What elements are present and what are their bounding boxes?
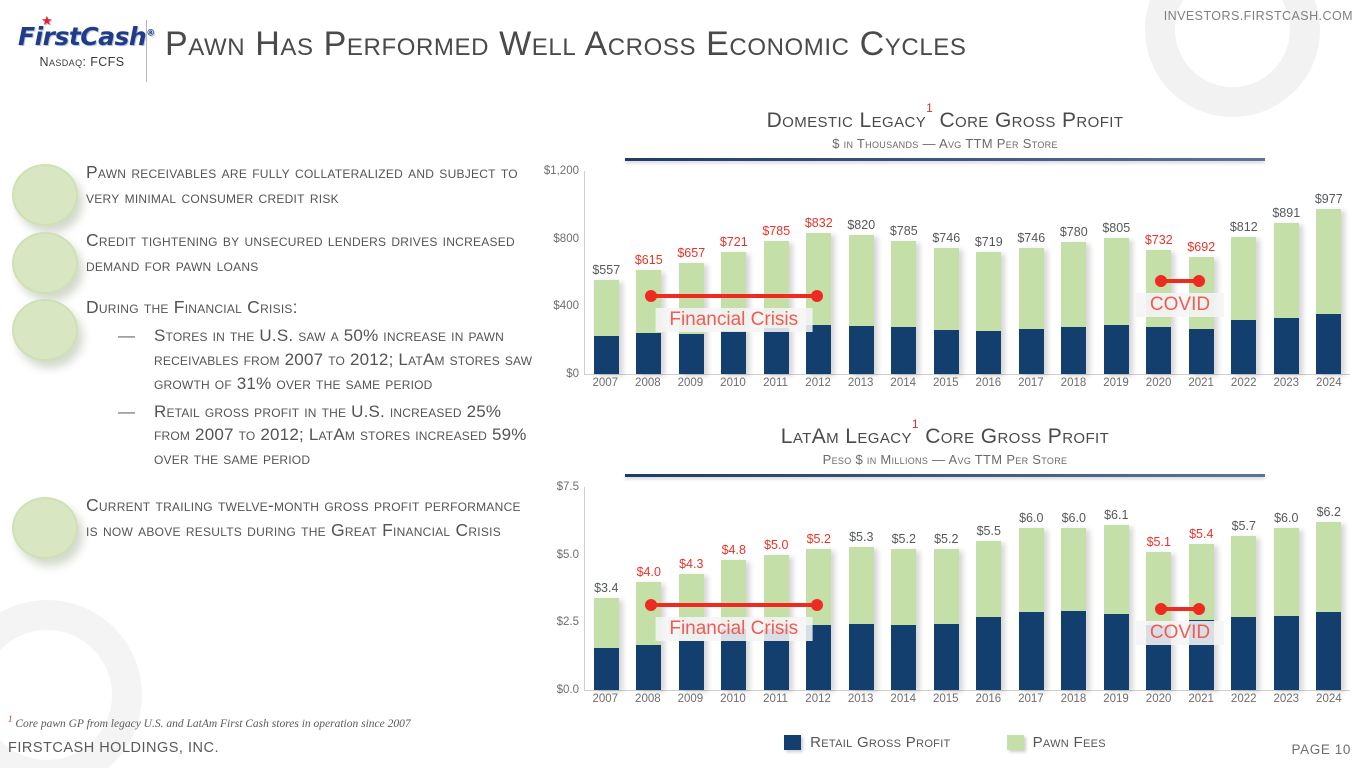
bar-column: $746 — [925, 171, 968, 374]
x-axis-tick-label: 2015 — [925, 377, 968, 389]
bar-value-label: $5.7 — [1232, 519, 1256, 533]
x-axis-tick-label: 2019 — [1095, 377, 1138, 389]
x-axis-tick-label: 2009 — [669, 693, 712, 705]
bar-segment-pawn-fees — [1231, 237, 1256, 320]
sub-bullet-text: Stores in the U.S. saw a 50% increase in… — [154, 326, 532, 393]
bar-value-label: $615 — [635, 253, 663, 267]
bar-segment-retail-gross-profit — [721, 331, 746, 374]
bar-segment-pawn-fees — [594, 598, 619, 648]
bar-stack — [594, 598, 619, 690]
bar-segment-retail-gross-profit — [1189, 329, 1214, 374]
bar-value-label: $692 — [1187, 240, 1215, 254]
bar-group: $557$615$657$721$785$832$820$785$746$719… — [585, 171, 1350, 374]
bar-value-label: $785 — [890, 224, 918, 238]
legend-swatch — [784, 735, 801, 750]
bar-column: $6.2 — [1308, 487, 1351, 690]
bar-segment-pawn-fees — [1061, 242, 1086, 327]
y-axis-tick-label: $800 — [553, 233, 579, 245]
chart-subtitle: $ in Thousands — Avg TTM Per Store — [530, 136, 1360, 151]
bar-value-label: $5.2 — [807, 532, 831, 546]
bar-segment-retail-gross-profit — [1104, 614, 1129, 690]
bar-segment-pawn-fees — [849, 235, 874, 325]
bar-column: $4.3 — [670, 487, 713, 690]
bar-value-label: $6.0 — [1274, 511, 1298, 525]
bar-stack — [1104, 525, 1129, 690]
bar-segment-retail-gross-profit — [679, 641, 704, 690]
bar-stack — [976, 252, 1001, 374]
footnote-marker: 1 — [8, 714, 13, 724]
x-axis-tick-label: 2010 — [712, 377, 755, 389]
bar-stack — [1231, 237, 1256, 374]
bar-column: $3.4 — [585, 487, 628, 690]
plot-area: $3.4$4.0$4.3$4.8$5.0$5.2$5.3$5.2$5.2$5.5… — [530, 487, 1360, 717]
bar-value-label: $5.4 — [1189, 527, 1213, 541]
title-rule — [625, 474, 1265, 477]
x-axis-tick-label: 2024 — [1308, 693, 1351, 705]
bar-column: $721 — [713, 171, 756, 374]
legend-item-retail-gross-profit: Retail Gross Profit — [784, 734, 950, 751]
x-axis-tick-label: 2022 — [1222, 693, 1265, 705]
bar-stack — [891, 549, 916, 690]
x-axis-tick-label: 2020 — [1137, 377, 1180, 389]
bar-segment-pawn-fees — [1316, 522, 1341, 611]
bar-segment-pawn-fees — [1274, 528, 1299, 616]
bullet-circle-icon — [12, 497, 78, 559]
chart-title-rest: Core Gross Profit — [925, 425, 1109, 448]
chart-title: Domestic Legacy1 Core Gross Profit — [530, 108, 1360, 133]
bar-stack — [849, 547, 874, 690]
chart-title-main: Domestic Legacy — [767, 109, 927, 132]
list-item: During the Financial Crisis: — Stores in… — [0, 295, 540, 471]
bar-segment-retail-gross-profit — [1316, 612, 1341, 690]
slide: ★ FirstCash® Nasdaq: FCFS Pawn Has Perfo… — [0, 0, 1365, 768]
dash-icon: — — [118, 324, 135, 348]
bar-segment-retail-gross-profit — [934, 624, 959, 690]
bar-value-label: $785 — [762, 224, 790, 238]
bar-stack — [1061, 528, 1086, 690]
legend-item-pawn-fees: Pawn Fees — [1007, 734, 1106, 751]
bar-column: $4.0 — [628, 487, 671, 690]
x-axis-tick-label: 2018 — [1052, 693, 1095, 705]
period-label: Financial Crisis — [655, 617, 812, 641]
x-axis-tick-label: 2023 — [1265, 377, 1308, 389]
bar-column: $5.1 — [1138, 487, 1181, 690]
sub-bullet-text: Retail gross profit in the U.S. increase… — [154, 402, 527, 469]
period-label: COVID — [1136, 293, 1224, 317]
list-item: Current trailing twelve-month gross prof… — [0, 493, 540, 543]
axis-area: $557$615$657$721$785$832$820$785$746$719… — [584, 171, 1350, 375]
bar-value-label: $557 — [592, 263, 620, 277]
x-axis-tick-label: 2024 — [1308, 377, 1351, 389]
period-endpoint-dot — [1155, 275, 1167, 287]
bar-stack — [1231, 536, 1256, 690]
dash-icon: — — [118, 400, 135, 424]
bar-value-label: $721 — [720, 235, 748, 249]
period-line — [649, 603, 819, 607]
y-axis-tick-label: $400 — [553, 300, 579, 312]
bar-stack — [1274, 223, 1299, 374]
bar-value-label: $5.1 — [1147, 535, 1171, 549]
bar-value-label: $746 — [1017, 231, 1045, 245]
bar-value-label: $4.0 — [637, 565, 661, 579]
bar-column: $6.0 — [1053, 487, 1096, 690]
header-divider — [146, 20, 147, 82]
bar-segment-retail-gross-profit — [679, 334, 704, 374]
bar-value-label: $6.0 — [1062, 511, 1086, 525]
bar-stack — [934, 248, 959, 374]
bar-stack — [806, 233, 831, 374]
x-axis-tick-label: 2020 — [1137, 693, 1180, 705]
bar-column: $820 — [840, 171, 883, 374]
bar-stack — [849, 235, 874, 374]
bar-value-label: $812 — [1230, 220, 1258, 234]
bar-segment-retail-gross-profit — [594, 648, 619, 690]
bar-segment-pawn-fees — [1019, 248, 1044, 329]
bar-column: $785 — [883, 171, 926, 374]
bar-segment-retail-gross-profit — [1274, 318, 1299, 374]
bar-value-label: $732 — [1145, 233, 1173, 247]
x-axis-tick-label: 2017 — [1010, 693, 1053, 705]
bullet-text: Current trailing twelve-month gross prof… — [86, 493, 540, 543]
bar-column: $6.0 — [1265, 487, 1308, 690]
bar-value-label: $977 — [1315, 192, 1343, 206]
bar-value-label: $6.0 — [1019, 511, 1043, 525]
bar-column: $5.0 — [755, 487, 798, 690]
bar-column: $719 — [968, 171, 1011, 374]
list-item: Pawn receivables are fully collateralize… — [0, 160, 540, 210]
company-name: FIRSTCASH HOLDINGS, INC. — [8, 740, 219, 756]
bar-segment-pawn-fees — [1104, 525, 1129, 614]
x-axis-tick-label: 2017 — [1010, 377, 1053, 389]
footnote-text: Core pawn GP from legacy U.S. and LatAm … — [15, 718, 410, 730]
bullet-text: Credit tightening by unsecured lenders d… — [86, 228, 540, 278]
bar-segment-retail-gross-profit — [891, 327, 916, 374]
bar-segment-pawn-fees — [891, 241, 916, 327]
x-axis-tick-label: 2008 — [627, 377, 670, 389]
bar-stack — [594, 280, 619, 374]
footnote: 1 Core pawn GP from legacy U.S. and LatA… — [8, 714, 411, 730]
bullet-circle-icon — [12, 299, 78, 361]
x-axis-tick-label: 2015 — [925, 693, 968, 705]
star-icon: ★ — [41, 15, 52, 28]
chart-latam-legacy: LatAm Legacy1 Core Gross Profit Peso $ i… — [530, 424, 1360, 724]
bar-column: $805 — [1095, 171, 1138, 374]
bar-value-label: $5.2 — [892, 532, 916, 546]
x-axis-tick-label: 2016 — [967, 693, 1010, 705]
legend-label: Retail Gross Profit — [810, 734, 950, 751]
x-axis-tick-label: 2008 — [627, 693, 670, 705]
bar-column: $832 — [798, 171, 841, 374]
bullet-text: Pawn receivables are fully collateralize… — [86, 160, 540, 210]
firstcash-logo: ★ FirstCash® Nasdaq: FCFS — [18, 22, 146, 69]
bar-stack — [1019, 528, 1044, 690]
bar-segment-pawn-fees — [891, 549, 916, 624]
bar-column: $732 — [1138, 171, 1181, 374]
bar-segment-retail-gross-profit — [891, 625, 916, 690]
y-axis-tick-label: $1,200 — [544, 165, 579, 177]
y-axis-tick-label: $7.5 — [557, 481, 579, 493]
bar-column: $780 — [1053, 171, 1096, 374]
bar-value-label: $746 — [932, 231, 960, 245]
bar-column: $615 — [628, 171, 671, 374]
bullet-text: During the Financial Crisis: — [86, 295, 540, 320]
chart-domestic-legacy: Domestic Legacy1 Core Gross Profit $ in … — [530, 108, 1360, 408]
x-axis: 2007200820092010201120122013201420152016… — [584, 693, 1350, 717]
x-axis-tick-label: 2022 — [1222, 377, 1265, 389]
bar-segment-retail-gross-profit — [594, 336, 619, 374]
bar-segment-pawn-fees — [1104, 238, 1129, 325]
bar-segment-retail-gross-profit — [636, 333, 661, 374]
x-axis-tick-label: 2014 — [882, 693, 925, 705]
bar-stack — [1316, 209, 1341, 374]
bar-segment-pawn-fees — [1274, 223, 1299, 318]
bar-value-label: $3.4 — [594, 581, 618, 595]
bar-segment-retail-gross-profit — [1316, 314, 1341, 374]
bar-value-label: $719 — [975, 235, 1003, 249]
sub-list-item: — Stores in the U.S. saw a 50% increase … — [118, 324, 540, 395]
x-axis-tick-label: 2007 — [584, 693, 627, 705]
bar-column: $4.8 — [713, 487, 756, 690]
bar-value-label: $657 — [677, 246, 705, 260]
bar-stack — [1316, 522, 1341, 690]
bar-segment-retail-gross-profit — [1146, 327, 1171, 374]
bar-segment-retail-gross-profit — [849, 326, 874, 374]
bar-column: $5.5 — [968, 487, 1011, 690]
x-axis-tick-label: 2012 — [797, 377, 840, 389]
bar-value-label: $5.0 — [764, 538, 788, 552]
bar-segment-pawn-fees — [1019, 528, 1044, 612]
bar-segment-pawn-fees — [1231, 536, 1256, 618]
y-axis-tick-label: $0.0 — [557, 684, 579, 696]
title-rule — [625, 158, 1265, 161]
bar-column: $6.0 — [1010, 487, 1053, 690]
legend-swatch — [1007, 735, 1024, 750]
bar-segment-pawn-fees — [806, 549, 831, 625]
y-axis-tick-label: $5.0 — [557, 549, 579, 561]
bar-value-label: $5.2 — [934, 532, 958, 546]
bar-stack — [1274, 528, 1299, 690]
bar-column: $692 — [1180, 171, 1223, 374]
bar-stack — [1019, 248, 1044, 374]
bar-segment-retail-gross-profit — [1061, 611, 1086, 690]
bar-stack — [1061, 242, 1086, 374]
bar-segment-retail-gross-profit — [1231, 320, 1256, 374]
legend-label: Pawn Fees — [1033, 734, 1106, 751]
bar-value-label: $5.3 — [849, 530, 873, 544]
bar-value-label: $820 — [847, 218, 875, 232]
bar-segment-pawn-fees — [594, 280, 619, 337]
x-axis-tick-label: 2021 — [1180, 693, 1223, 705]
bar-column: $557 — [585, 171, 628, 374]
x-axis-tick-label: 2014 — [882, 377, 925, 389]
bar-segment-pawn-fees — [934, 248, 959, 330]
bar-value-label: $5.5 — [977, 524, 1001, 538]
bar-segment-retail-gross-profit — [636, 645, 661, 690]
bar-segment-retail-gross-profit — [1104, 325, 1129, 374]
bar-value-label: $891 — [1272, 206, 1300, 220]
bar-segment-pawn-fees — [976, 252, 1001, 331]
bar-value-label: $832 — [805, 216, 833, 230]
bar-column: $5.2 — [798, 487, 841, 690]
bar-segment-retail-gross-profit — [1274, 616, 1299, 690]
bar-segment-retail-gross-profit — [849, 624, 874, 690]
period-label: Financial Crisis — [655, 308, 812, 332]
bar-column: $812 — [1223, 171, 1266, 374]
bar-segment-pawn-fees — [934, 549, 959, 623]
bar-segment-retail-gross-profit — [1061, 327, 1086, 374]
x-axis-tick-label: 2010 — [712, 693, 755, 705]
x-axis-tick-label: 2012 — [797, 693, 840, 705]
bar-column: $746 — [1010, 171, 1053, 374]
bullet-circle-icon — [12, 232, 78, 294]
bullet-list: Pawn receivables are fully collateralize… — [0, 160, 540, 561]
y-axis-tick-label: $0 — [566, 368, 579, 380]
bar-stack — [976, 541, 1001, 690]
period-label: COVID — [1136, 621, 1224, 645]
bar-group: $3.4$4.0$4.3$4.8$5.0$5.2$5.3$5.2$5.2$5.5… — [585, 487, 1350, 690]
bar-value-label: $780 — [1060, 225, 1088, 239]
chart-title-footnote-marker: 1 — [912, 417, 919, 431]
bar-value-label: $6.2 — [1317, 505, 1341, 519]
bar-column: $5.7 — [1223, 487, 1266, 690]
bar-segment-retail-gross-profit — [1019, 329, 1044, 374]
bar-column: $977 — [1308, 171, 1351, 374]
bar-column: $785 — [755, 171, 798, 374]
bar-value-label: $805 — [1102, 221, 1130, 235]
bullet-circle-icon — [12, 164, 78, 226]
bar-segment-pawn-fees — [849, 547, 874, 625]
logo-wordmark: ★ FirstCash® — [18, 22, 155, 51]
bar-column: $5.4 — [1180, 487, 1223, 690]
bar-column: $5.2 — [925, 487, 968, 690]
x-axis-tick-label: 2011 — [754, 377, 797, 389]
bar-stack — [1189, 544, 1214, 690]
bar-stack — [891, 241, 916, 374]
x-axis-tick-label: 2018 — [1052, 377, 1095, 389]
chart-title-footnote-marker: 1 — [926, 101, 933, 115]
plot-area: $557$615$657$721$785$832$820$785$746$719… — [530, 171, 1360, 401]
sub-bullet-list: — Stores in the U.S. saw a 50% increase … — [118, 324, 540, 471]
x-axis-tick-label: 2013 — [839, 377, 882, 389]
bar-segment-pawn-fees — [1316, 209, 1341, 314]
bar-segment-pawn-fees — [976, 541, 1001, 617]
investor-site-url: INVESTORS.FIRSTCASH.COM — [1164, 9, 1353, 23]
bar-stack — [1104, 238, 1129, 374]
logo-word-text: FirstCash — [18, 22, 146, 51]
page-title: Pawn Has Performed Well Across Economic … — [165, 25, 967, 64]
x-axis-tick-label: 2007 — [584, 377, 627, 389]
bar-segment-retail-gross-profit — [934, 330, 959, 374]
x-axis-tick-label: 2009 — [669, 377, 712, 389]
bar-stack — [934, 549, 959, 690]
chart-legend: Retail Gross Profit Pawn Fees — [530, 734, 1360, 751]
axis-area: $3.4$4.0$4.3$4.8$5.0$5.2$5.3$5.2$5.2$5.5… — [584, 487, 1350, 691]
logo-ticker: Nasdaq: FCFS — [18, 55, 146, 69]
x-axis-tick-label: 2021 — [1180, 377, 1223, 389]
sub-list-item: — Retail gross profit in the U.S. increa… — [118, 400, 540, 471]
bar-value-label: $4.3 — [679, 557, 703, 571]
bar-segment-retail-gross-profit — [1019, 612, 1044, 690]
x-axis: 2007200820092010201120122013201420152016… — [584, 377, 1350, 401]
x-axis-tick-label: 2016 — [967, 377, 1010, 389]
chart-title-main: LatAm Legacy — [781, 425, 912, 448]
period-line — [649, 294, 819, 298]
list-item: Credit tightening by unsecured lenders d… — [0, 228, 540, 278]
bar-column: $891 — [1265, 171, 1308, 374]
bar-segment-retail-gross-profit — [764, 328, 789, 374]
registered-mark: ® — [146, 29, 155, 39]
bar-segment-retail-gross-profit — [1231, 617, 1256, 690]
x-axis-tick-label: 2023 — [1265, 693, 1308, 705]
bar-column: $5.3 — [840, 487, 883, 690]
bar-segment-pawn-fees — [1061, 528, 1086, 611]
x-axis-tick-label: 2019 — [1095, 693, 1138, 705]
chart-title: LatAm Legacy1 Core Gross Profit — [530, 424, 1360, 449]
x-axis-tick-label: 2011 — [754, 693, 797, 705]
bar-segment-retail-gross-profit — [976, 617, 1001, 690]
bar-value-label: $4.8 — [722, 543, 746, 557]
bar-column: $6.1 — [1095, 487, 1138, 690]
y-axis-tick-label: $2.5 — [557, 616, 579, 628]
x-axis-tick-label: 2013 — [839, 693, 882, 705]
chart-subtitle: Peso $ in Millions — Avg TTM Per Store — [530, 452, 1360, 467]
chart-title-rest: Core Gross Profit — [939, 109, 1123, 132]
bar-column: $5.2 — [883, 487, 926, 690]
bar-value-label: $6.1 — [1104, 508, 1128, 522]
bar-segment-retail-gross-profit — [976, 331, 1001, 374]
bar-column: $657 — [670, 171, 713, 374]
